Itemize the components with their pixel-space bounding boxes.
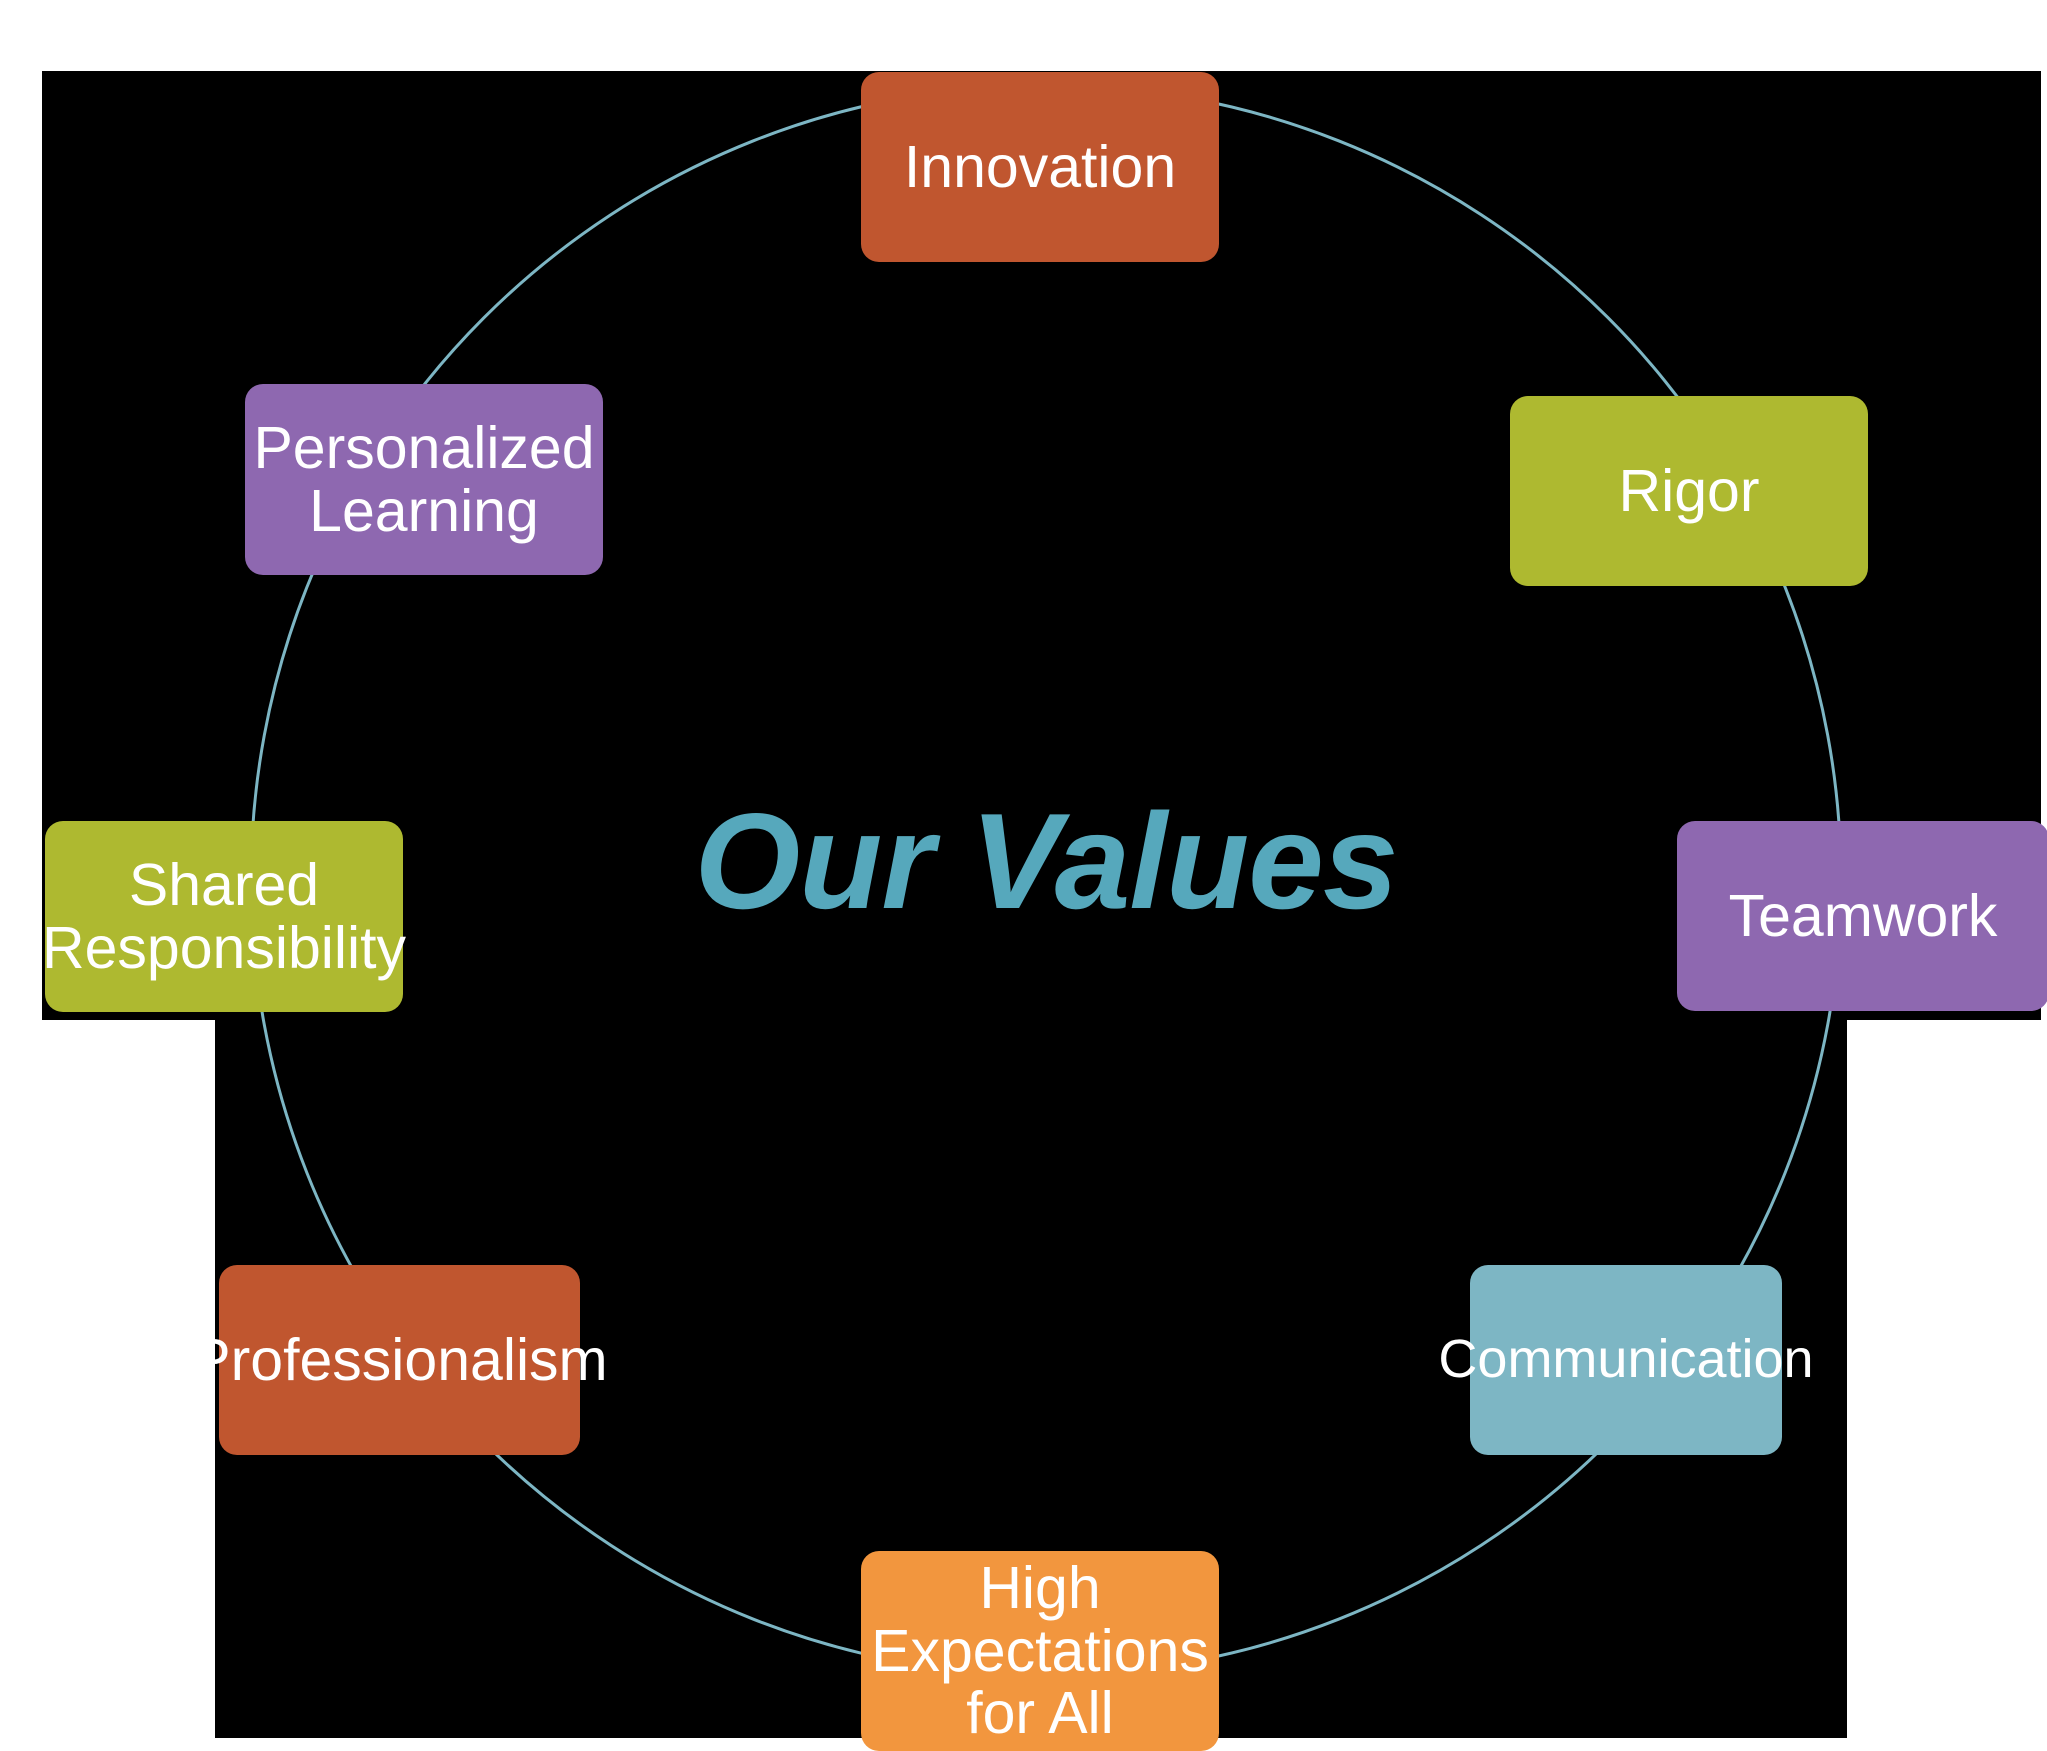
node-personalized-learning-label: Personalized Learning (245, 417, 603, 542)
node-teamwork[interactable]: Teamwork (1677, 821, 2047, 1011)
values-diagram: Our Values Innovation Rigor Teamwork Com… (0, 0, 2047, 1751)
node-communication-label: Communication (1438, 1331, 1813, 1388)
node-professionalism-label: Professionalism (191, 1329, 607, 1392)
node-shared-responsibility[interactable]: Shared Responsibility (45, 821, 403, 1012)
node-high-expectations-for-all-label: High Expectations for All (861, 1557, 1219, 1745)
node-communication[interactable]: Communication (1470, 1265, 1782, 1455)
node-professionalism[interactable]: Professionalism (219, 1265, 580, 1455)
node-shared-responsibility-label: Shared Responsibility (42, 854, 406, 979)
node-high-expectations-for-all[interactable]: High Expectations for All (861, 1551, 1219, 1751)
node-innovation[interactable]: Innovation (861, 72, 1219, 262)
node-rigor[interactable]: Rigor (1510, 396, 1868, 586)
node-rigor-label: Rigor (1510, 460, 1868, 523)
node-teamwork-label: Teamwork (1677, 885, 2047, 948)
page-title: Our Values (523, 793, 1569, 929)
node-innovation-label: Innovation (861, 136, 1219, 199)
node-personalized-learning[interactable]: Personalized Learning (245, 384, 603, 575)
